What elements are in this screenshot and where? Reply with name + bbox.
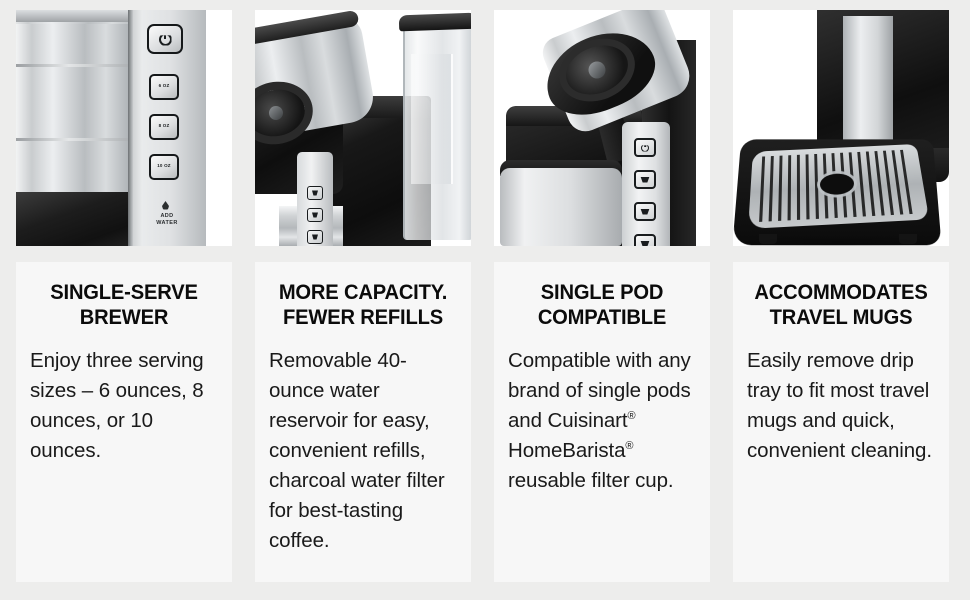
brewer-metal-front [843, 16, 893, 148]
add-water-indicator-label: ADD WATER [146, 213, 188, 227]
cup-icon [312, 235, 318, 240]
power-icon [159, 33, 172, 46]
cup-icon-10oz [641, 241, 650, 247]
cup-size-label-10oz: 10 OZ [153, 164, 175, 169]
feature-body-text-3: reusable filter cup. [508, 469, 674, 492]
feature-heading: MORE CAPACITY. FEWER REFILLS [273, 280, 453, 330]
registered-mark-homebarista: ® [625, 440, 633, 452]
cup-size-6oz-button[interactable] [634, 170, 656, 189]
feature-card-single-serve-brewer: SINGLE-SERVE BREWER Enjoy three serving … [16, 262, 232, 582]
feature-image-single-pod-compatible [494, 10, 710, 246]
brew-basket-drawer [500, 168, 622, 246]
feature-column-single-pod-compatible: SINGLE POD COMPATIBLE Compatible with an… [494, 10, 710, 582]
cup-size-button[interactable] [307, 230, 323, 244]
reservoir-lid [399, 13, 471, 32]
feature-column-accommodates-travel-mugs: ACCOMMODATES TRAVEL MUGS Easily remove d… [733, 10, 949, 582]
feature-image-more-capacity [255, 10, 471, 246]
feature-image-accommodates-travel-mugs [733, 10, 949, 246]
feature-card-more-capacity: MORE CAPACITY. FEWER REFILLS Removable 4… [255, 262, 471, 582]
product-photo-pod-chamber-open [494, 10, 710, 246]
power-button[interactable] [307, 186, 323, 200]
feature-heading: SINGLE POD COMPATIBLE [512, 280, 692, 330]
cup-size-8oz-button[interactable] [634, 202, 656, 221]
cup-icon-6oz: 6 OZ [153, 84, 175, 90]
feature-heading: ACCOMMODATES TRAVEL MUGS [751, 280, 931, 330]
cup-size-10oz-button[interactable] [634, 234, 656, 246]
cup-icon [312, 213, 318, 218]
feature-column-single-serve-brewer: 6 OZ 8 OZ 10 OZ [16, 10, 232, 582]
power-icon [641, 144, 649, 152]
feature-body: Easily remove drip tray to fit most trav… [747, 346, 935, 466]
add-water-line-2: WATER [156, 220, 177, 226]
cup-icon-10oz: 10 OZ [153, 164, 175, 170]
feature-body-text-1: Compatible with any brand of single pods… [508, 349, 691, 432]
feature-body: Enjoy three serving sizes – 6 ounces, 8 … [30, 346, 218, 466]
cup-icon-8oz [641, 209, 650, 215]
feature-card-single-pod-compatible: SINGLE POD COMPATIBLE Compatible with an… [494, 262, 710, 582]
product-photo-drip-tray [733, 10, 949, 246]
control-panel-edge [128, 10, 133, 246]
drip-tray-grate [748, 144, 929, 229]
power-button[interactable] [634, 138, 656, 157]
feature-body: Removable 40-ounce water reservoir for e… [269, 346, 457, 556]
feature-body: Compatible with any brand of single pods… [508, 346, 696, 496]
registered-mark-cuisinart: ® [628, 410, 636, 422]
feature-heading: SINGLE-SERVE BREWER [34, 280, 214, 330]
tank-lip [16, 10, 142, 22]
cup-size-label-8oz: 8 OZ [153, 124, 175, 129]
cup-size-label-6oz: 6 OZ [153, 84, 175, 89]
drop-shadow [743, 236, 933, 246]
reservoir-inner-wall [411, 54, 453, 184]
product-photo-control-panel: 6 OZ 8 OZ 10 OZ [16, 10, 232, 246]
power-button[interactable] [147, 24, 183, 54]
power-icon [312, 191, 318, 196]
cup-size-6oz-button[interactable]: 6 OZ [149, 74, 179, 100]
cup-size-button[interactable] [307, 208, 323, 222]
feature-column-more-capacity: MORE CAPACITY. FEWER REFILLS Removable 4… [255, 10, 471, 582]
product-photo-water-reservoir [255, 10, 471, 246]
feature-card-accommodates-travel-mugs: ACCOMMODATES TRAVEL MUGS Easily remove d… [733, 262, 949, 582]
feature-image-single-serve-brewer: 6 OZ 8 OZ 10 OZ [16, 10, 232, 246]
cup-size-8oz-button[interactable]: 8 OZ [149, 114, 179, 140]
feature-grid: 6 OZ 8 OZ 10 OZ [0, 0, 970, 600]
cup-size-10oz-button[interactable]: 10 OZ [149, 154, 179, 180]
cup-icon-6oz [641, 177, 650, 183]
cup-icon-8oz: 8 OZ [153, 124, 175, 130]
add-water-line-1: ADD [160, 213, 173, 219]
feature-body-text-2: HomeBarista [508, 439, 625, 462]
